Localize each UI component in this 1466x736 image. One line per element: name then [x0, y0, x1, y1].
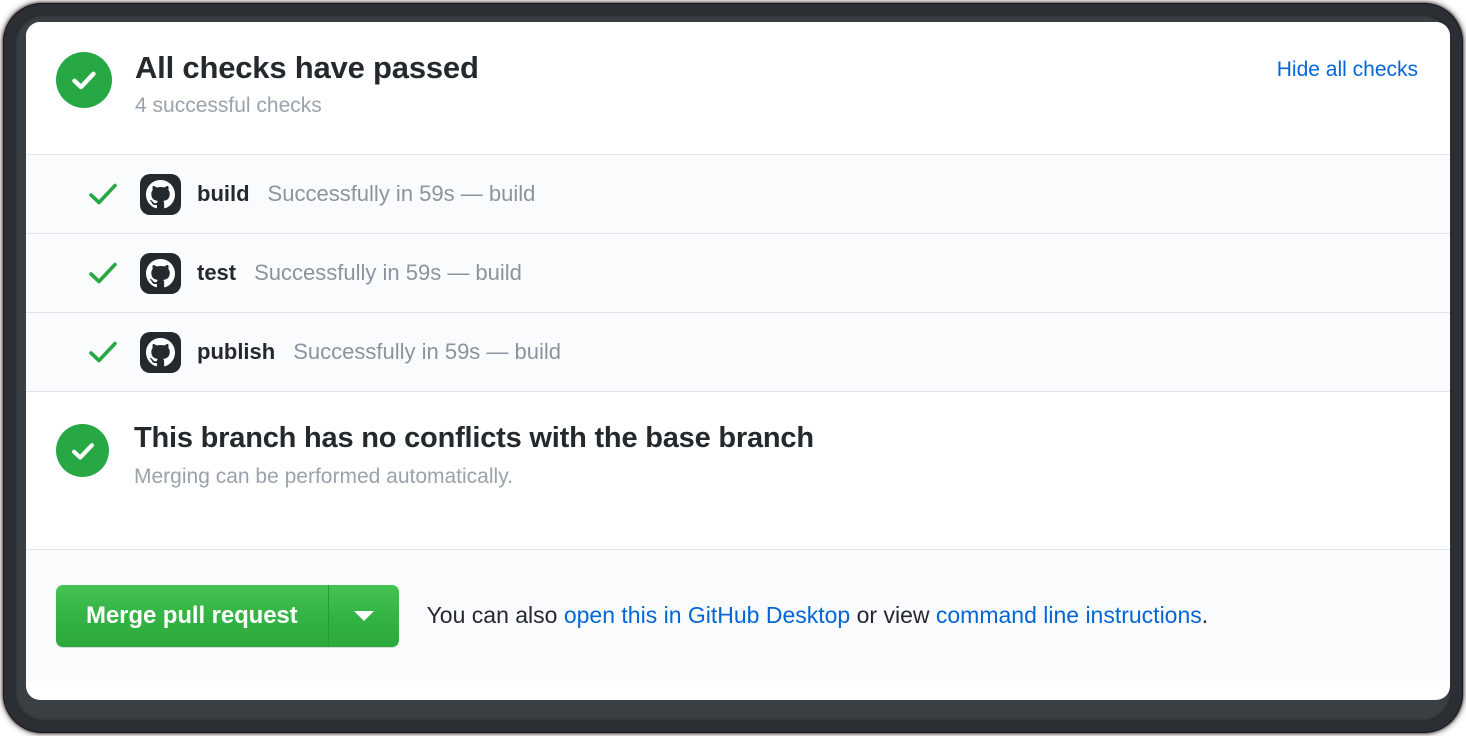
open-in-github-desktop-link[interactable]: open this in GitHub Desktop — [564, 602, 850, 628]
check-description: Successfully in 59s — build — [268, 181, 536, 207]
merge-help-text: You can also open this in GitHub Desktop… — [427, 602, 1209, 629]
command-line-instructions-link[interactable]: command line instructions — [936, 602, 1202, 628]
table-row[interactable]: publish Successfully in 59s — build — [26, 313, 1450, 392]
checks-summary: 4 successful checks — [135, 93, 1277, 118]
page-title: All checks have passed — [135, 50, 1277, 86]
branch-conflicts-section: This branch has no conflicts with the ba… — [26, 392, 1450, 550]
hide-all-checks-link[interactable]: Hide all checks — [1277, 58, 1418, 82]
check-name: publish — [197, 339, 275, 365]
check-icon — [88, 182, 122, 206]
github-icon — [140, 174, 181, 215]
merge-status-card: All checks have passed 4 successful chec… — [26, 22, 1450, 700]
merge-help-prefix: You can also — [427, 602, 564, 628]
check-name: build — [197, 181, 250, 207]
check-description: Successfully in 59s — build — [254, 260, 522, 286]
check-circle-icon — [56, 52, 112, 108]
merge-options-dropdown-button[interactable] — [328, 585, 399, 647]
check-description: Successfully in 59s — build — [293, 339, 561, 365]
checks-header-row: All checks have passed 4 successful chec… — [56, 50, 1418, 118]
merge-action-bar: Merge pull request You can also open thi… — [26, 550, 1450, 681]
merge-pull-request-button[interactable]: Merge pull request — [56, 585, 328, 647]
chevron-down-icon — [354, 611, 374, 621]
table-row[interactable]: test Successfully in 59s — build — [26, 234, 1450, 313]
check-icon — [88, 261, 122, 285]
checks-header: All checks have passed 4 successful chec… — [26, 22, 1450, 155]
branch-conflicts-text: This branch has no conflicts with the ba… — [134, 422, 814, 489]
github-icon — [140, 332, 181, 373]
check-name: test — [197, 260, 236, 286]
merge-help-middle: or view — [850, 602, 936, 628]
checks-list: build Successfully in 59s — build test S… — [26, 155, 1450, 392]
branch-conflicts-subtitle: Merging can be performed automatically. — [134, 465, 814, 489]
checks-header-text: All checks have passed 4 successful chec… — [135, 50, 1277, 118]
merge-help-suffix: . — [1202, 602, 1208, 628]
merge-button-group: Merge pull request — [56, 585, 399, 647]
check-icon — [88, 340, 122, 364]
github-icon — [140, 253, 181, 294]
table-row[interactable]: build Successfully in 59s — build — [26, 155, 1450, 234]
check-circle-icon — [56, 424, 109, 477]
branch-conflicts-title: This branch has no conflicts with the ba… — [134, 422, 814, 455]
